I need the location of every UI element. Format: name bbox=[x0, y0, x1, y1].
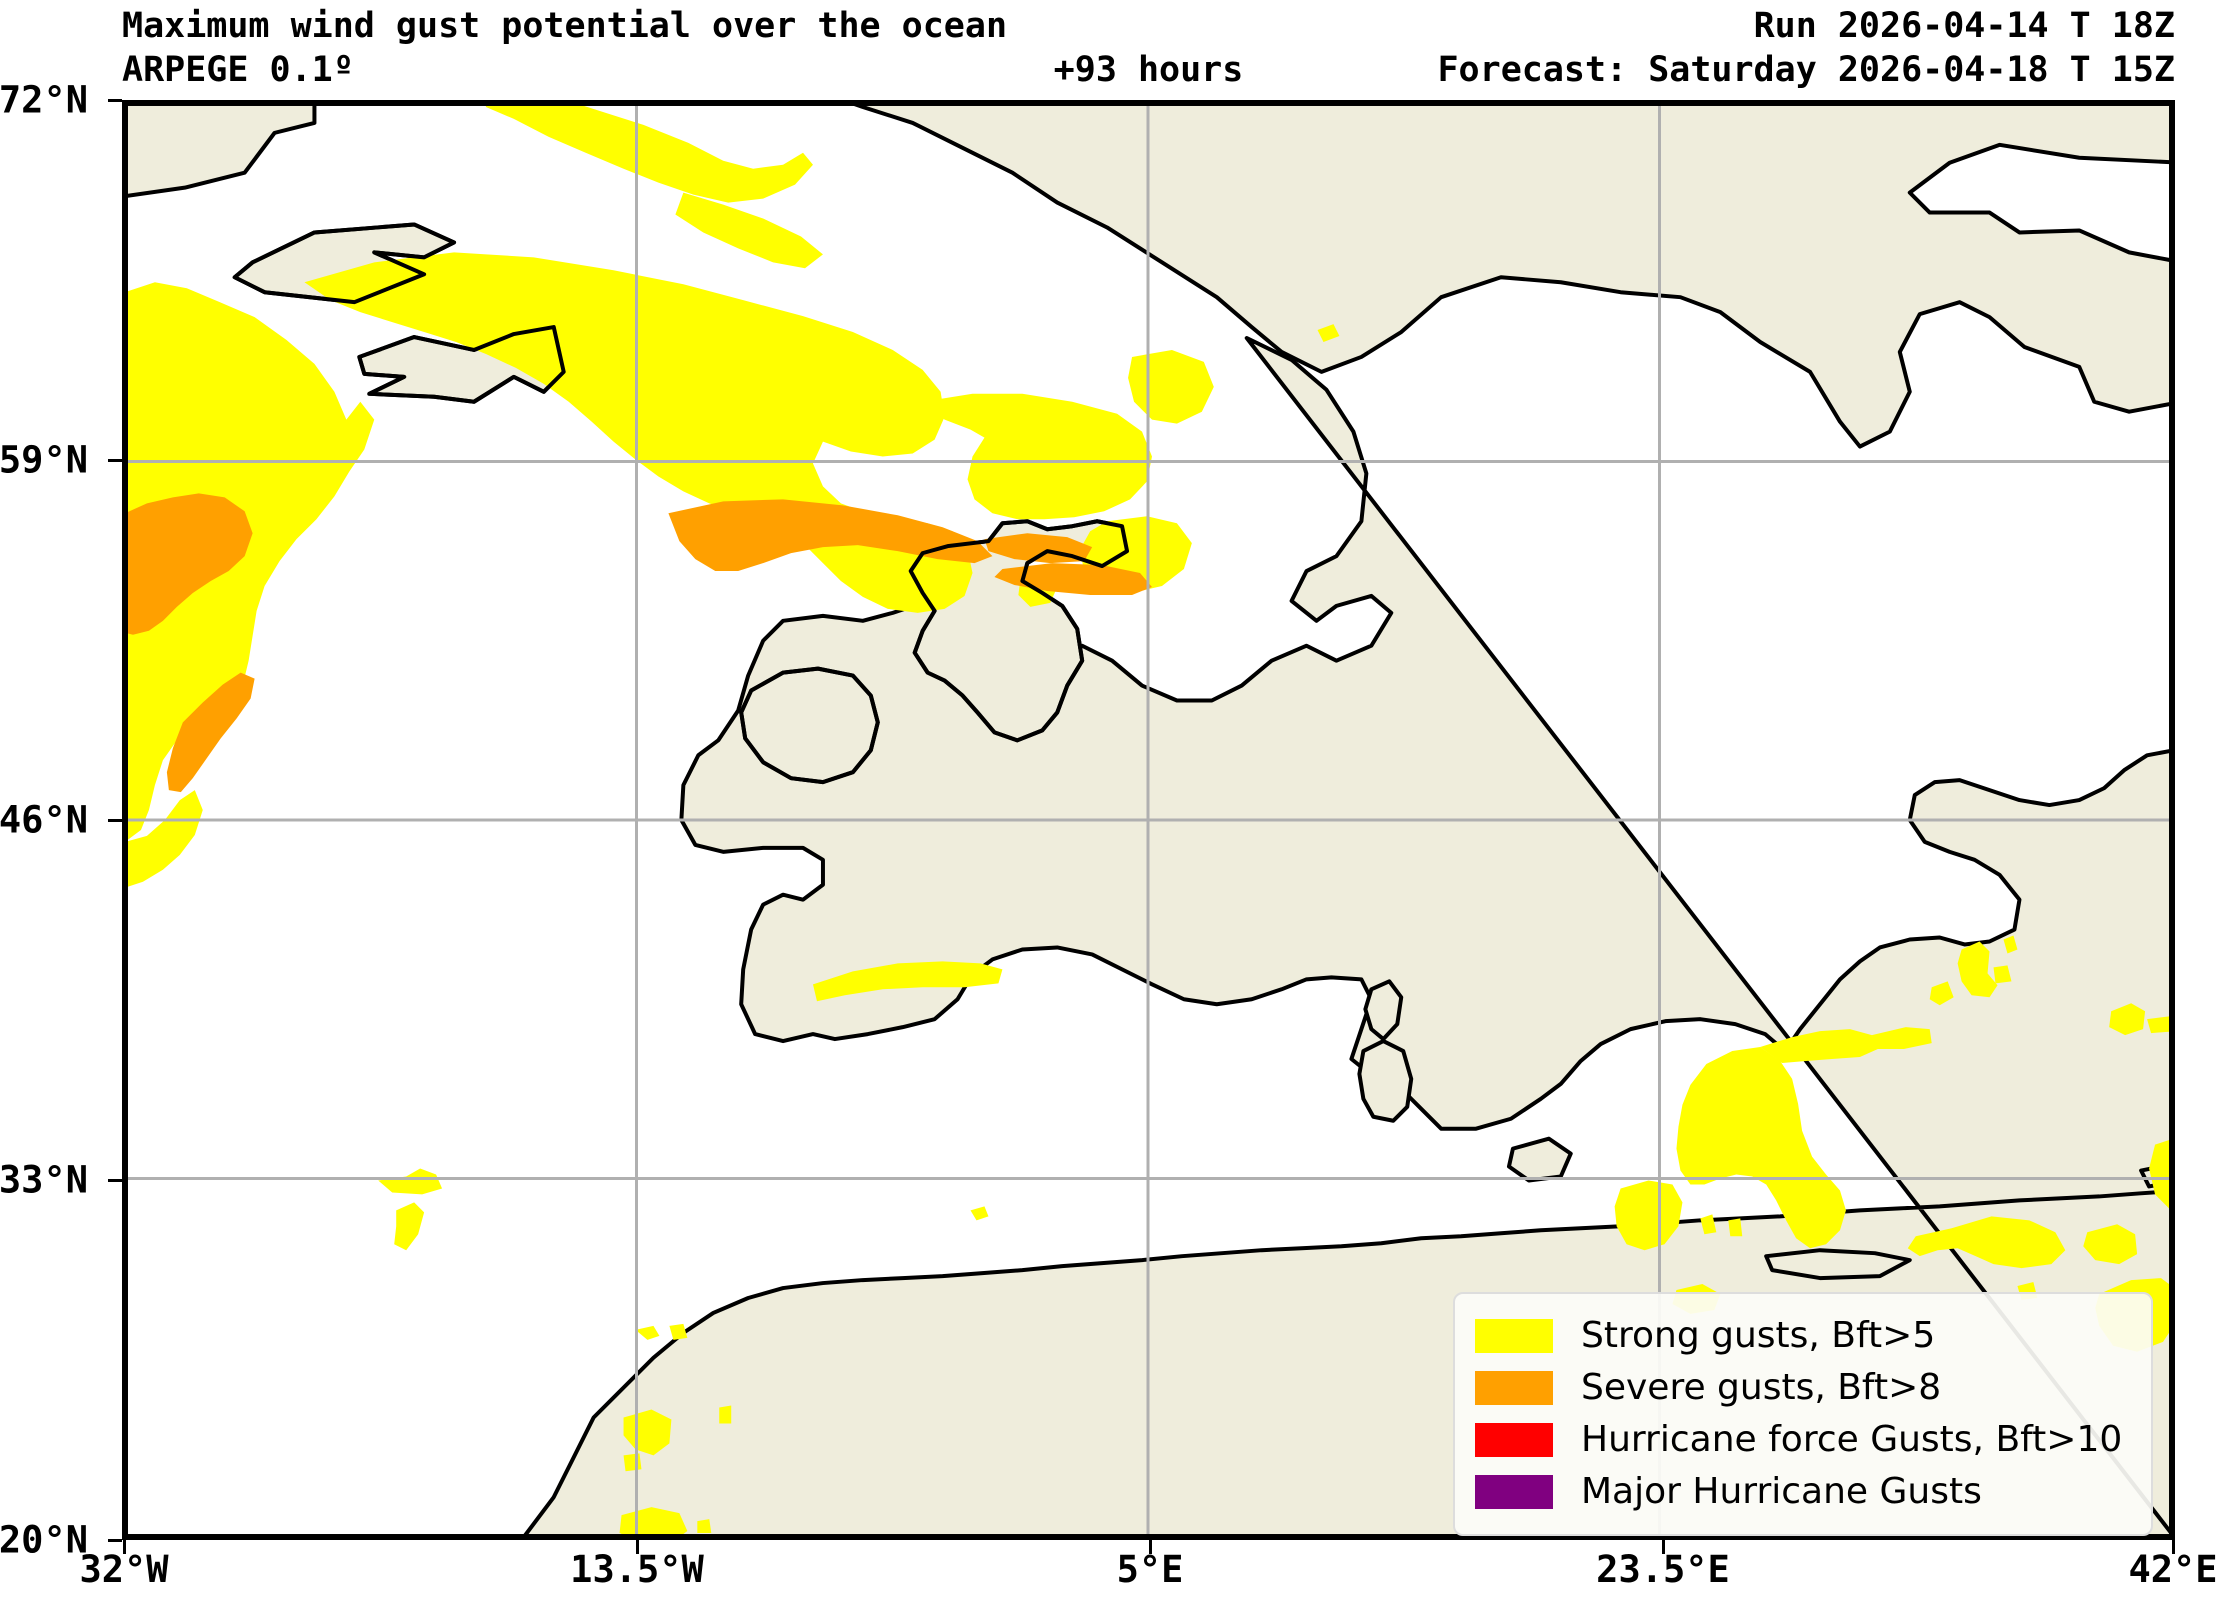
y-axis-tick-label: 72°N bbox=[0, 79, 88, 122]
page-title: Maximum wind gust potential over the oce… bbox=[122, 4, 1007, 48]
legend-swatch-hurricane-gusts bbox=[1475, 1423, 1553, 1457]
legend-label-strong-gusts: Strong gusts, Bft>5 bbox=[1581, 1318, 1935, 1354]
y-axis-tickmark bbox=[108, 1179, 122, 1182]
gust-region-canary-patch-5 bbox=[719, 1406, 731, 1424]
legend-label-hurricane-gusts: Hurricane force Gusts, Bft>10 bbox=[1581, 1422, 2122, 1458]
y-axis-tickmark bbox=[108, 1539, 122, 1542]
x-axis-tick-label: 23.5°E bbox=[1596, 1548, 1730, 1591]
y-axis-tick-label: 59°N bbox=[0, 439, 88, 482]
header-row-top: Maximum wind gust potential over the oce… bbox=[122, 4, 2175, 48]
legend-swatch-strong-gusts bbox=[1475, 1319, 1553, 1353]
x-axis-tickmark bbox=[123, 1540, 126, 1554]
header-row-bottom: ARPEGE 0.1º +93 hours Forecast: Saturday… bbox=[122, 48, 2175, 92]
legend-label-severe-gusts: Severe gusts, Bft>8 bbox=[1581, 1370, 1941, 1406]
chart-header: Maximum wind gust potential over the oce… bbox=[0, 0, 2233, 98]
x-axis-tickmark bbox=[2172, 1540, 2175, 1554]
legend-item-strong-gusts[interactable]: Strong gusts, Bft>5 bbox=[1475, 1310, 2129, 1362]
forecast-validity: Forecast: Saturday 2026-04-18 T 15Z bbox=[1437, 48, 2175, 92]
legend-swatch-major-hurricane-gusts bbox=[1475, 1475, 1553, 1509]
legend-item-severe-gusts[interactable]: Severe gusts, Bft>8 bbox=[1475, 1362, 2129, 1414]
legend-item-hurricane-gusts[interactable]: Hurricane force Gusts, Bft>10 bbox=[1475, 1414, 2129, 1466]
legend-label-major-hurricane-gusts: Major Hurricane Gusts bbox=[1581, 1474, 1982, 1510]
x-axis-tickmark bbox=[636, 1540, 639, 1554]
legend-swatch-severe-gusts bbox=[1475, 1371, 1553, 1405]
run-timestamp: Run 2026-04-14 T 18Z bbox=[1754, 4, 2175, 48]
x-axis-tick-label: 13.5°W bbox=[570, 1548, 704, 1591]
x-axis-tickmark bbox=[1662, 1540, 1665, 1554]
sardinia-landmass bbox=[1359, 1041, 1411, 1121]
x-axis-tick-label: 5°E bbox=[1117, 1548, 1184, 1591]
x-axis-tick-label: 32°W bbox=[79, 1548, 168, 1591]
x-axis-tick-label: 42°E bbox=[2128, 1548, 2217, 1591]
y-axis-tick-label: 20°N bbox=[0, 1519, 88, 1562]
gust-region-canary-patch-4 bbox=[624, 1453, 642, 1471]
y-axis-tick-label: 46°N bbox=[0, 799, 88, 842]
y-axis-tickmark bbox=[108, 459, 122, 462]
y-axis-tick-label: 33°N bbox=[0, 1159, 88, 1202]
x-axis-tickmark bbox=[1149, 1540, 1152, 1554]
gust-region-canary-patch-7 bbox=[697, 1519, 711, 1533]
gust-region-aegean-small-2 bbox=[1728, 1218, 1742, 1236]
legend-item-major-hurricane-gusts[interactable]: Major Hurricane Gusts bbox=[1475, 1466, 2129, 1518]
map-legend[interactable]: Strong gusts, Bft>5 Severe gusts, Bft>8 … bbox=[1453, 1292, 2153, 1536]
y-axis-tickmark bbox=[108, 819, 122, 822]
y-axis-tickmark bbox=[108, 99, 122, 102]
